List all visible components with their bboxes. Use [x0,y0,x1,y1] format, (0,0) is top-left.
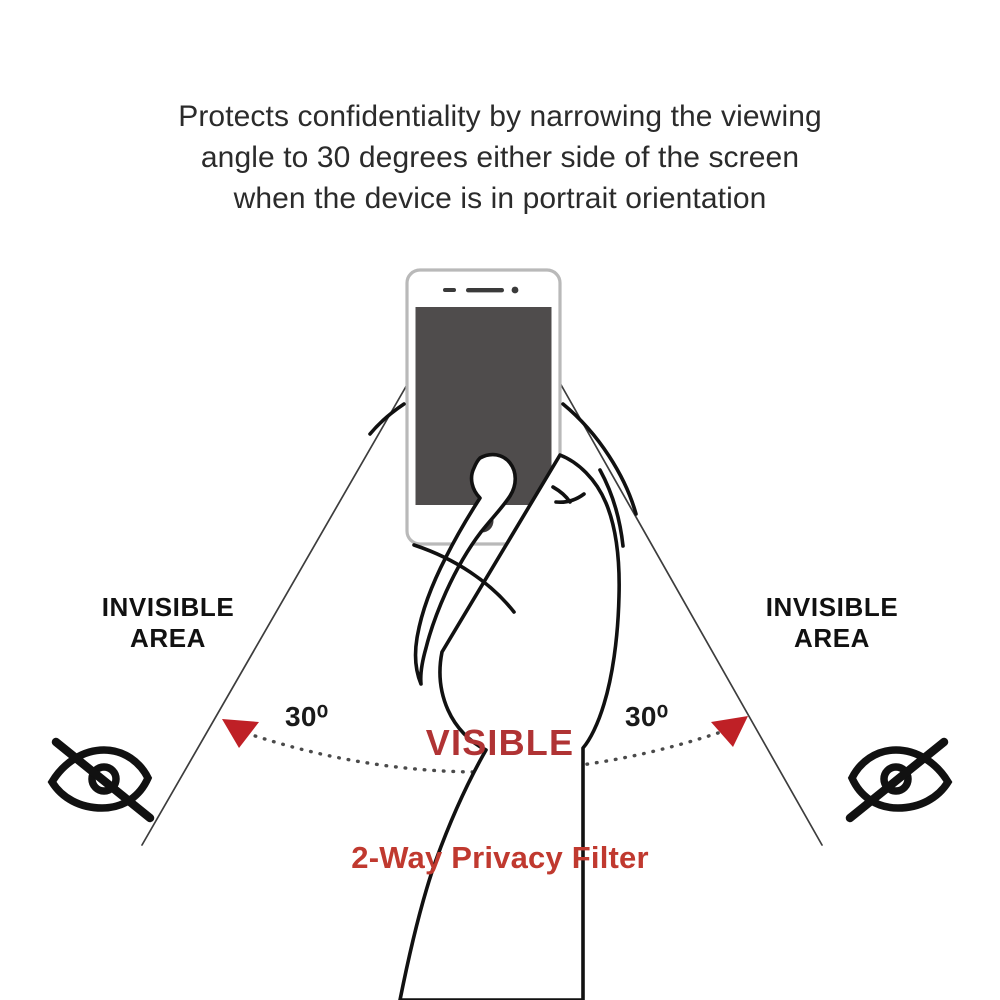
product-caption: 2-Way Privacy Filter [0,840,1000,876]
earpiece-speaker-icon [466,288,504,292]
visible-area-label: VISIBLE [0,722,1000,764]
proximity-sensor-icon [443,288,456,292]
privacy-filter-diagram: Protects confidentiality by narrowing th… [0,0,1000,1000]
hand-left-contour [370,404,404,434]
invisible-area-label-left: INVISIBLE AREA [58,592,278,654]
invisible-area-label-right: INVISIBLE AREA [722,592,942,654]
front-camera-icon [512,287,519,294]
